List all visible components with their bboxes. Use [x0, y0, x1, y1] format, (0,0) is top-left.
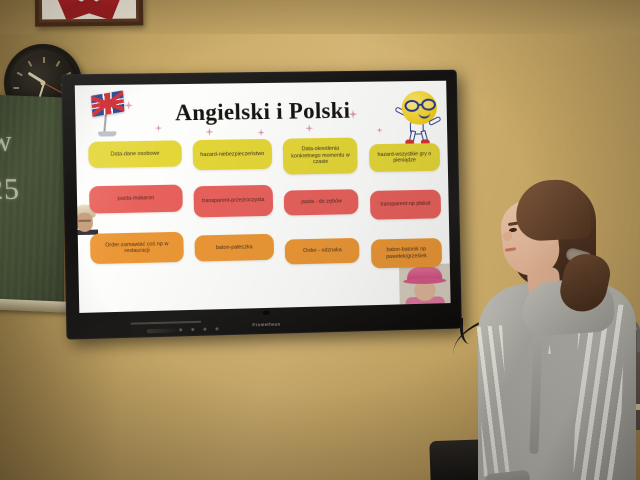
vocab-card[interactable]: Data-określenia konkretnego momentu w cz…: [283, 137, 359, 174]
sparkle-icon: [377, 127, 383, 133]
vocab-card[interactable]: Data-dane osobowe: [88, 140, 182, 168]
vocab-card[interactable]: hazard-niebezpieczeństwo: [192, 139, 272, 170]
sparkle-icon: [305, 124, 313, 132]
vocab-card[interactable]: Order - odznaka: [285, 238, 360, 265]
queen-hat-brim: [403, 277, 446, 284]
person-hair-front: [514, 178, 591, 242]
display-button[interactable]: [203, 328, 206, 331]
vocab-card[interactable]: Order-zamawiać coś np w restauracji: [90, 232, 184, 264]
display-screen[interactable]: Angielski i Polski: [75, 81, 451, 313]
vocab-card[interactable]: pasta - do zębów: [284, 189, 359, 215]
display-button[interactable]: [179, 328, 182, 331]
card-row-red: pasta-makaron transparent-przezroczysta …: [89, 180, 441, 226]
vocab-card[interactable]: transparent-przezroczysta: [193, 185, 273, 218]
flag-base: [98, 131, 116, 136]
vocab-card[interactable]: baton-batonik np pawełek/grześiek: [371, 238, 442, 268]
student-standing: [470, 176, 640, 480]
sparkle-icon: [205, 128, 213, 136]
emblem-icon: [58, 0, 120, 19]
chalk-text-line-1: ow: [0, 125, 13, 159]
mascot-glasses-bridge: [417, 104, 422, 106]
vocabulary-card-grid: Data-dane osobowe hazard-niebezpieczeńst…: [88, 136, 442, 283]
sparkle-icon: [258, 129, 265, 136]
chalk-text-line-2: 025: [0, 173, 21, 207]
frame-mat: [42, 0, 136, 19]
interactive-display[interactable]: Angielski i Polski: [61, 70, 462, 340]
framed-emblem-picture: [35, 0, 143, 27]
vocab-card[interactable]: transparent-np plakat: [370, 190, 441, 220]
card-row-orange: Order-zamawiać coś np w restauracji bato…: [90, 226, 442, 275]
flag-cloth: [91, 90, 125, 117]
union-jack-flag-icon: [91, 93, 129, 140]
display-button[interactable]: [215, 327, 218, 330]
vocab-card[interactable]: baton-pałeczka: [194, 234, 273, 262]
vocab-card[interactable]: hazard-wszystkie gry o pieniądze: [369, 143, 440, 172]
display-button[interactable]: [191, 328, 194, 331]
display-brand-logo: Promethean: [252, 322, 280, 328]
classroom-blackboard: ow 025: [0, 94, 70, 309]
presentation-slide: Angielski i Polski: [75, 81, 451, 313]
vocab-card[interactable]: pasta-makaron: [89, 185, 183, 214]
card-row-yellow: Data-dane osobowe hazard-niebezpieczeńst…: [88, 136, 440, 178]
clock-center-pin: [41, 81, 46, 86]
classroom-scene: 9 ow 025: [0, 0, 640, 480]
display-sensor: [263, 311, 270, 315]
